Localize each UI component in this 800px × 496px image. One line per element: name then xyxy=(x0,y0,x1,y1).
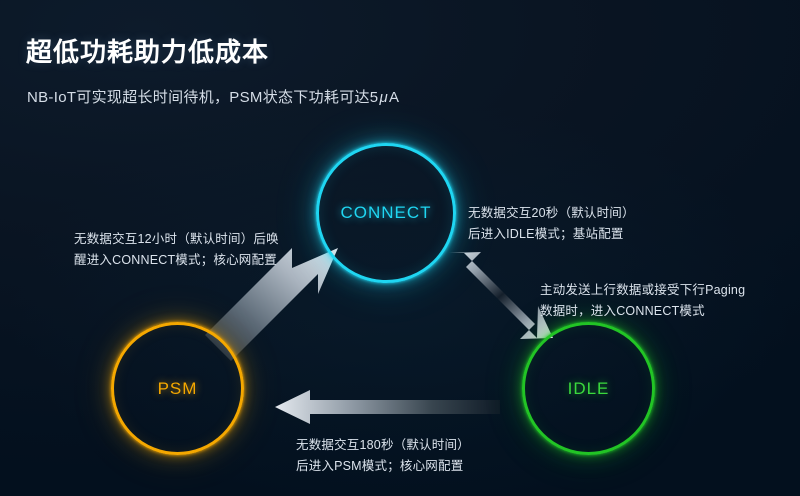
state-node-connect[interactable]: CONNECT xyxy=(316,143,456,283)
caption-idle-to-psm: 无数据交互180秒（默认时间） 后进入PSM模式；核心网配置 xyxy=(296,435,470,477)
state-node-connect-label: CONNECT xyxy=(340,203,431,223)
caption-idle-to-connect: 主动发送上行数据或接受下行Paging 数据时，进入CONNECT模式 xyxy=(540,280,745,322)
page-title: 超低功耗助力低成本 xyxy=(26,32,269,69)
micro-symbol: μ xyxy=(378,89,389,106)
page-subtitle: NB-IoT可实现超长时间待机，PSM状态下功耗可达5μA xyxy=(27,86,399,107)
state-node-idle[interactable]: IDLE xyxy=(522,322,655,455)
caption-psm-to-connect: 无数据交互12小时（默认时间）后唤 醒进入CONNECT模式；核心网配置 xyxy=(74,229,279,271)
state-node-psm[interactable]: PSM xyxy=(111,322,244,455)
state-node-idle-label: IDLE xyxy=(568,379,610,399)
caption-connect-to-idle: 无数据交互20秒（默认时间） 后进入IDLE模式；基站配置 xyxy=(468,203,635,245)
state-node-psm-label: PSM xyxy=(158,379,198,399)
subtitle-suffix: A xyxy=(389,89,399,106)
slide-canvas: 超低功耗助力低成本 NB-IoT可实现超长时间待机，PSM状态下功耗可达5μA xyxy=(0,0,800,496)
arrow-idle-to-psm xyxy=(275,390,500,424)
subtitle-prefix: NB-IoT可实现超长时间待机，PSM状态下功耗可达5 xyxy=(27,89,378,106)
